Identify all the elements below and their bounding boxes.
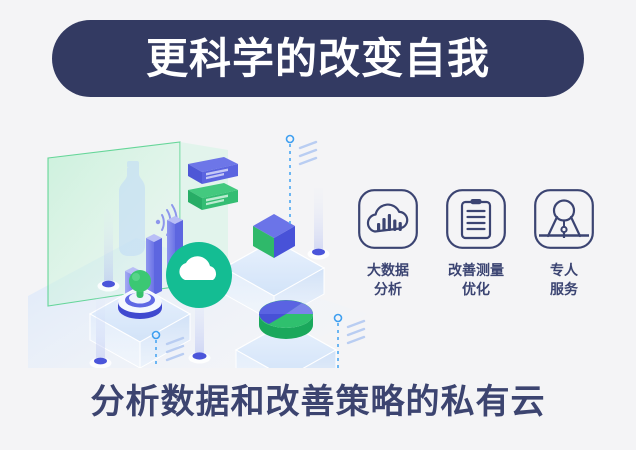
page-title: 更科学的改变自我 <box>146 38 490 80</box>
header-pill-banner: 更科学的改变自我 <box>52 20 584 97</box>
feature-label-big-data: 大数据 分析 <box>367 261 409 299</box>
feature-label-measurement: 改善测量 优化 <box>448 261 504 299</box>
isometric-pie-chart <box>259 300 313 339</box>
feature-item-service[interactable]: 专人 服务 <box>528 186 600 299</box>
footer-tagline: 分析数据和改善策略的私有云 <box>0 382 636 423</box>
promo-poster: 更科学的改变自我 <box>0 0 636 450</box>
feature-item-measurement[interactable]: 改善测量 优化 <box>440 186 512 299</box>
feature-list: 大数据 分析 改善测量 优化 <box>352 186 600 299</box>
person-service-icon <box>531 186 597 252</box>
isometric-illustration <box>28 118 368 368</box>
feature-label-service: 专人 服务 <box>550 261 578 299</box>
cloud-bar-chart-icon <box>355 186 421 252</box>
clipboard-icon <box>443 186 509 252</box>
feature-item-big-data[interactable]: 大数据 分析 <box>352 186 424 299</box>
